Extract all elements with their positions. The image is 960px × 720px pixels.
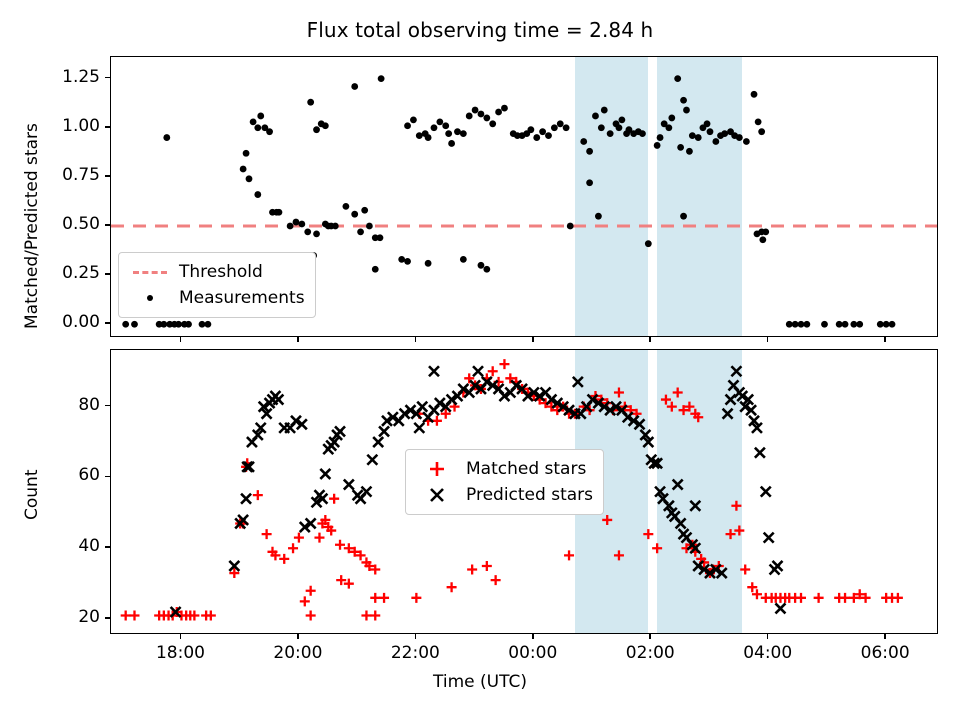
measurement-point	[736, 134, 743, 141]
measurement-point	[680, 97, 687, 104]
matched-star-marker	[491, 575, 501, 585]
threshold-dashed-line-icon	[127, 271, 173, 274]
measurement-point	[842, 321, 849, 328]
measurement-point	[695, 134, 702, 141]
measurement-point	[366, 223, 373, 230]
predicted-star-marker	[320, 469, 330, 479]
measurement-point	[398, 256, 405, 263]
measurement-point	[803, 321, 810, 328]
measurement-point	[185, 321, 192, 328]
measurement-point	[580, 138, 587, 145]
measurement-dot-icon	[127, 295, 173, 301]
measurement-point	[607, 130, 614, 137]
measurement-point	[657, 134, 664, 141]
predicted-star-marker	[429, 366, 439, 376]
measurement-point	[489, 120, 496, 127]
matched-star-marker	[673, 387, 683, 397]
x-tick-label: 18:00	[135, 643, 225, 663]
measurement-point	[689, 132, 696, 139]
plus-marker-icon	[414, 459, 460, 479]
matched-star-marker	[306, 586, 316, 596]
measurement-point	[751, 91, 758, 98]
measurement-point	[436, 118, 443, 125]
measurement-point	[586, 148, 593, 155]
measurement-point	[674, 75, 681, 82]
measurement-point	[712, 138, 719, 145]
y-tick-label-top: 1.00	[30, 116, 100, 136]
measurement-point	[821, 321, 828, 328]
measurement-point	[618, 116, 625, 123]
predicted-star-marker	[473, 366, 483, 376]
measurement-point	[654, 142, 661, 149]
matched-star-marker	[731, 501, 741, 511]
measurement-point	[425, 134, 432, 141]
matched-star-marker	[447, 582, 457, 592]
y-tick-label-top: 0.25	[30, 263, 100, 283]
measurement-point	[483, 115, 490, 122]
predicted-star-marker	[773, 561, 783, 571]
legend-label-measurements: Measurements	[173, 288, 305, 308]
y-tick-top	[105, 322, 110, 324]
measurement-point	[454, 128, 461, 135]
legend-item-predicted-stars: Predicted stars	[414, 482, 593, 508]
predicted-star-marker	[775, 603, 785, 613]
measurement-point	[877, 321, 884, 328]
measurement-point	[322, 122, 329, 129]
bottom-panel-legend: Matched stars Predicted stars	[405, 449, 604, 515]
y-tick-bottom	[105, 405, 110, 407]
measurement-point	[567, 223, 574, 230]
measurement-point	[266, 128, 273, 135]
measurement-point	[342, 203, 349, 210]
measurement-point	[501, 105, 508, 112]
measurement-point	[448, 140, 455, 147]
predicted-star-marker	[379, 426, 389, 436]
measurement-point	[404, 258, 411, 265]
matched-star-marker	[121, 611, 131, 621]
measurement-point	[762, 228, 769, 235]
x-tick-bottom	[532, 634, 534, 639]
matched-star-marker	[262, 529, 272, 539]
measurement-point	[199, 321, 206, 328]
matched-star-marker	[752, 589, 762, 599]
y-tick-bottom	[105, 617, 110, 619]
measurement-point	[755, 118, 762, 125]
x-axis-title: Time (UTC)	[0, 672, 960, 692]
matched-star-marker	[893, 593, 903, 603]
matched-star-marker	[329, 494, 339, 504]
measurement-point	[416, 132, 423, 139]
measurement-point	[175, 321, 182, 328]
measurement-point	[250, 118, 257, 125]
measurement-point	[298, 221, 305, 228]
predicted-star-marker	[414, 423, 424, 433]
predicted-star-marker	[673, 480, 683, 490]
measurement-point	[293, 219, 300, 226]
y-tick-top	[105, 126, 110, 128]
measurement-point	[254, 124, 261, 131]
matched-star-marker	[564, 550, 574, 560]
measurement-point	[425, 260, 432, 267]
measurement-point	[204, 321, 211, 328]
matched-star-marker	[602, 515, 612, 525]
y-tick-top	[105, 77, 110, 79]
measurement-point	[758, 128, 765, 135]
x-tick-label: 22:00	[370, 643, 460, 663]
measurement-point	[122, 321, 129, 328]
measurement-point	[460, 130, 467, 137]
measurement-point	[668, 115, 675, 122]
x-tick-bottom	[415, 634, 417, 639]
measurement-point	[131, 321, 138, 328]
y-tick-label-top: 0.00	[30, 312, 100, 332]
measurement-point	[586, 179, 593, 186]
measurement-point	[351, 211, 358, 218]
measurement-point	[478, 111, 485, 118]
measurement-point	[478, 262, 485, 269]
matched-star-marker	[467, 565, 477, 575]
y-tick-bottom	[105, 546, 110, 548]
x-tick-bottom	[884, 634, 886, 639]
y-tick-label-top: 1.25	[30, 67, 100, 87]
predicted-star-marker	[241, 494, 251, 504]
matched-star-marker	[726, 529, 736, 539]
measurement-point	[243, 150, 250, 157]
x-tick-top	[767, 337, 769, 342]
measurement-point	[677, 144, 684, 151]
legend-item-threshold: Threshold	[127, 259, 305, 285]
x-tick-top	[532, 337, 534, 342]
measurement-point	[378, 75, 385, 82]
measurement-point	[287, 223, 294, 230]
matched-star-marker	[499, 359, 509, 369]
predicted-star-marker	[417, 402, 427, 412]
measurement-point	[563, 124, 570, 131]
matched-star-marker	[488, 366, 498, 376]
matched-star-marker	[370, 611, 380, 621]
measurement-point	[361, 207, 368, 214]
measurement-point	[616, 124, 623, 131]
measurement-point	[798, 321, 805, 328]
top-panel-legend: Threshold Measurements	[118, 252, 316, 318]
matched-star-marker	[734, 526, 744, 536]
matched-star-marker	[652, 543, 662, 553]
measurement-point	[792, 321, 799, 328]
measurement-point	[639, 130, 646, 137]
measurement-point	[786, 321, 793, 328]
measurement-point	[856, 321, 863, 328]
measurement-point	[163, 134, 170, 141]
matched-star-marker	[294, 533, 304, 543]
matched-star-marker	[379, 593, 389, 603]
matched-star-marker	[667, 402, 677, 412]
y-tick-bottom	[105, 476, 110, 478]
measurement-point	[545, 132, 552, 139]
legend-label-predicted-stars: Predicted stars	[460, 485, 593, 505]
measurement-point	[883, 321, 890, 328]
measurement-point	[160, 321, 167, 328]
measurement-point	[410, 116, 417, 123]
measurement-point	[466, 113, 473, 120]
matched-star-marker	[279, 554, 289, 564]
x-tick-label: 06:00	[840, 643, 930, 663]
measurement-point	[598, 124, 605, 131]
measurement-point	[483, 266, 490, 273]
predicted-star-marker	[335, 426, 345, 436]
matched-star-marker	[482, 561, 492, 571]
measurement-point	[850, 321, 857, 328]
figure-canvas: Flux total observing time = 2.84 h Match…	[0, 0, 960, 720]
predicted-star-marker	[367, 455, 377, 465]
measurement-point	[445, 130, 452, 137]
matched-star-marker	[840, 593, 850, 603]
y-tick-label-bottom: 80	[40, 395, 100, 415]
measurement-point	[372, 266, 379, 273]
measurement-point	[254, 191, 261, 198]
measurement-point	[539, 128, 546, 135]
matched-star-marker	[661, 395, 671, 405]
y-tick-top	[105, 224, 110, 226]
y-tick-label-bottom: 20	[40, 607, 100, 627]
predicted-star-marker	[723, 409, 733, 419]
measurement-point	[276, 209, 283, 216]
matched-star-marker	[370, 593, 380, 603]
measurement-point	[557, 120, 564, 127]
measurement-point	[759, 236, 766, 243]
cross-marker-icon	[414, 485, 460, 505]
predicted-star-marker	[373, 437, 383, 447]
legend-label-threshold: Threshold	[173, 262, 263, 282]
measurement-point	[836, 321, 843, 328]
measurement-point	[743, 138, 750, 145]
y-tick-top	[105, 175, 110, 177]
measurement-point	[313, 126, 320, 133]
measurement-point	[889, 321, 896, 328]
measurement-point	[431, 124, 438, 131]
x-tick-top	[180, 337, 182, 342]
y-tick-label-top: 0.75	[30, 165, 100, 185]
matched-star-marker	[614, 550, 624, 560]
figure-title: Flux total observing time = 2.84 h	[0, 18, 960, 42]
measurement-point	[351, 83, 358, 90]
x-tick-bottom	[767, 634, 769, 639]
measurement-point	[357, 228, 364, 235]
measurement-point	[313, 230, 320, 237]
matched-star-marker	[306, 611, 316, 621]
legend-label-matched-stars: Matched stars	[460, 459, 586, 479]
x-tick-top	[884, 337, 886, 342]
measurement-point	[680, 213, 687, 220]
x-tick-label: 20:00	[253, 643, 343, 663]
matched-star-marker	[288, 543, 298, 553]
measurement-point	[307, 99, 314, 106]
bottom-panel-y-axis-title: Count	[22, 469, 42, 520]
x-tick-bottom	[297, 634, 299, 639]
matched-star-marker	[643, 529, 653, 539]
matched-star-marker	[411, 593, 421, 603]
x-tick-top	[649, 337, 651, 342]
y-tick-top	[105, 273, 110, 275]
legend-item-matched-stars: Matched stars	[414, 456, 593, 482]
measurement-point	[686, 148, 693, 155]
measurement-point	[257, 113, 264, 120]
measurement-point	[665, 124, 672, 131]
matched-star-marker	[129, 611, 139, 621]
measurement-point	[240, 166, 247, 173]
predicted-star-marker	[344, 480, 354, 490]
x-tick-top	[415, 337, 417, 342]
matched-star-marker	[747, 582, 757, 592]
matched-star-marker	[335, 540, 345, 550]
predicted-star-marker	[731, 366, 741, 376]
matched-star-marker	[614, 387, 624, 397]
measurement-point	[527, 126, 534, 133]
x-tick-top	[297, 337, 299, 342]
measurement-point	[495, 109, 502, 116]
measurement-point	[595, 213, 602, 220]
x-tick-label: 00:00	[488, 643, 578, 663]
measurement-point	[460, 256, 467, 263]
x-tick-label: 02:00	[605, 643, 695, 663]
measurement-point	[645, 240, 652, 247]
measurement-point	[404, 122, 411, 129]
measurement-point	[683, 107, 690, 114]
matched-star-marker	[314, 533, 324, 543]
measurement-point	[704, 120, 711, 127]
y-tick-label-top: 0.50	[30, 214, 100, 234]
x-tick-label: 04:00	[723, 643, 813, 663]
measurement-point	[601, 107, 608, 114]
measurement-point	[707, 128, 714, 135]
y-tick-label-bottom: 60	[40, 465, 100, 485]
matched-star-marker	[206, 611, 216, 621]
measurement-point	[551, 124, 558, 131]
measurement-point	[442, 122, 449, 129]
matched-star-marker	[300, 596, 310, 606]
measurement-point	[246, 175, 253, 182]
x-tick-bottom	[180, 634, 182, 639]
measurement-point	[721, 130, 728, 137]
measurement-point	[304, 228, 311, 235]
measurement-point	[533, 134, 540, 141]
predicted-star-marker	[690, 501, 700, 511]
matched-star-marker	[253, 490, 263, 500]
predicted-star-marker	[755, 448, 765, 458]
predicted-star-marker	[761, 487, 771, 497]
matched-star-marker	[740, 565, 750, 575]
y-tick-label-bottom: 40	[40, 536, 100, 556]
matched-star-marker	[796, 593, 806, 603]
x-tick-bottom	[649, 634, 651, 639]
predicted-star-marker	[573, 377, 583, 387]
measurement-point	[332, 223, 339, 230]
predicted-star-marker	[676, 518, 686, 528]
measurement-point	[377, 234, 384, 241]
measurement-point	[592, 113, 599, 120]
matched-star-marker	[361, 611, 371, 621]
matched-star-marker	[814, 593, 824, 603]
legend-item-measurements: Measurements	[127, 285, 305, 311]
measurement-point	[472, 107, 479, 114]
predicted-star-marker	[764, 533, 774, 543]
